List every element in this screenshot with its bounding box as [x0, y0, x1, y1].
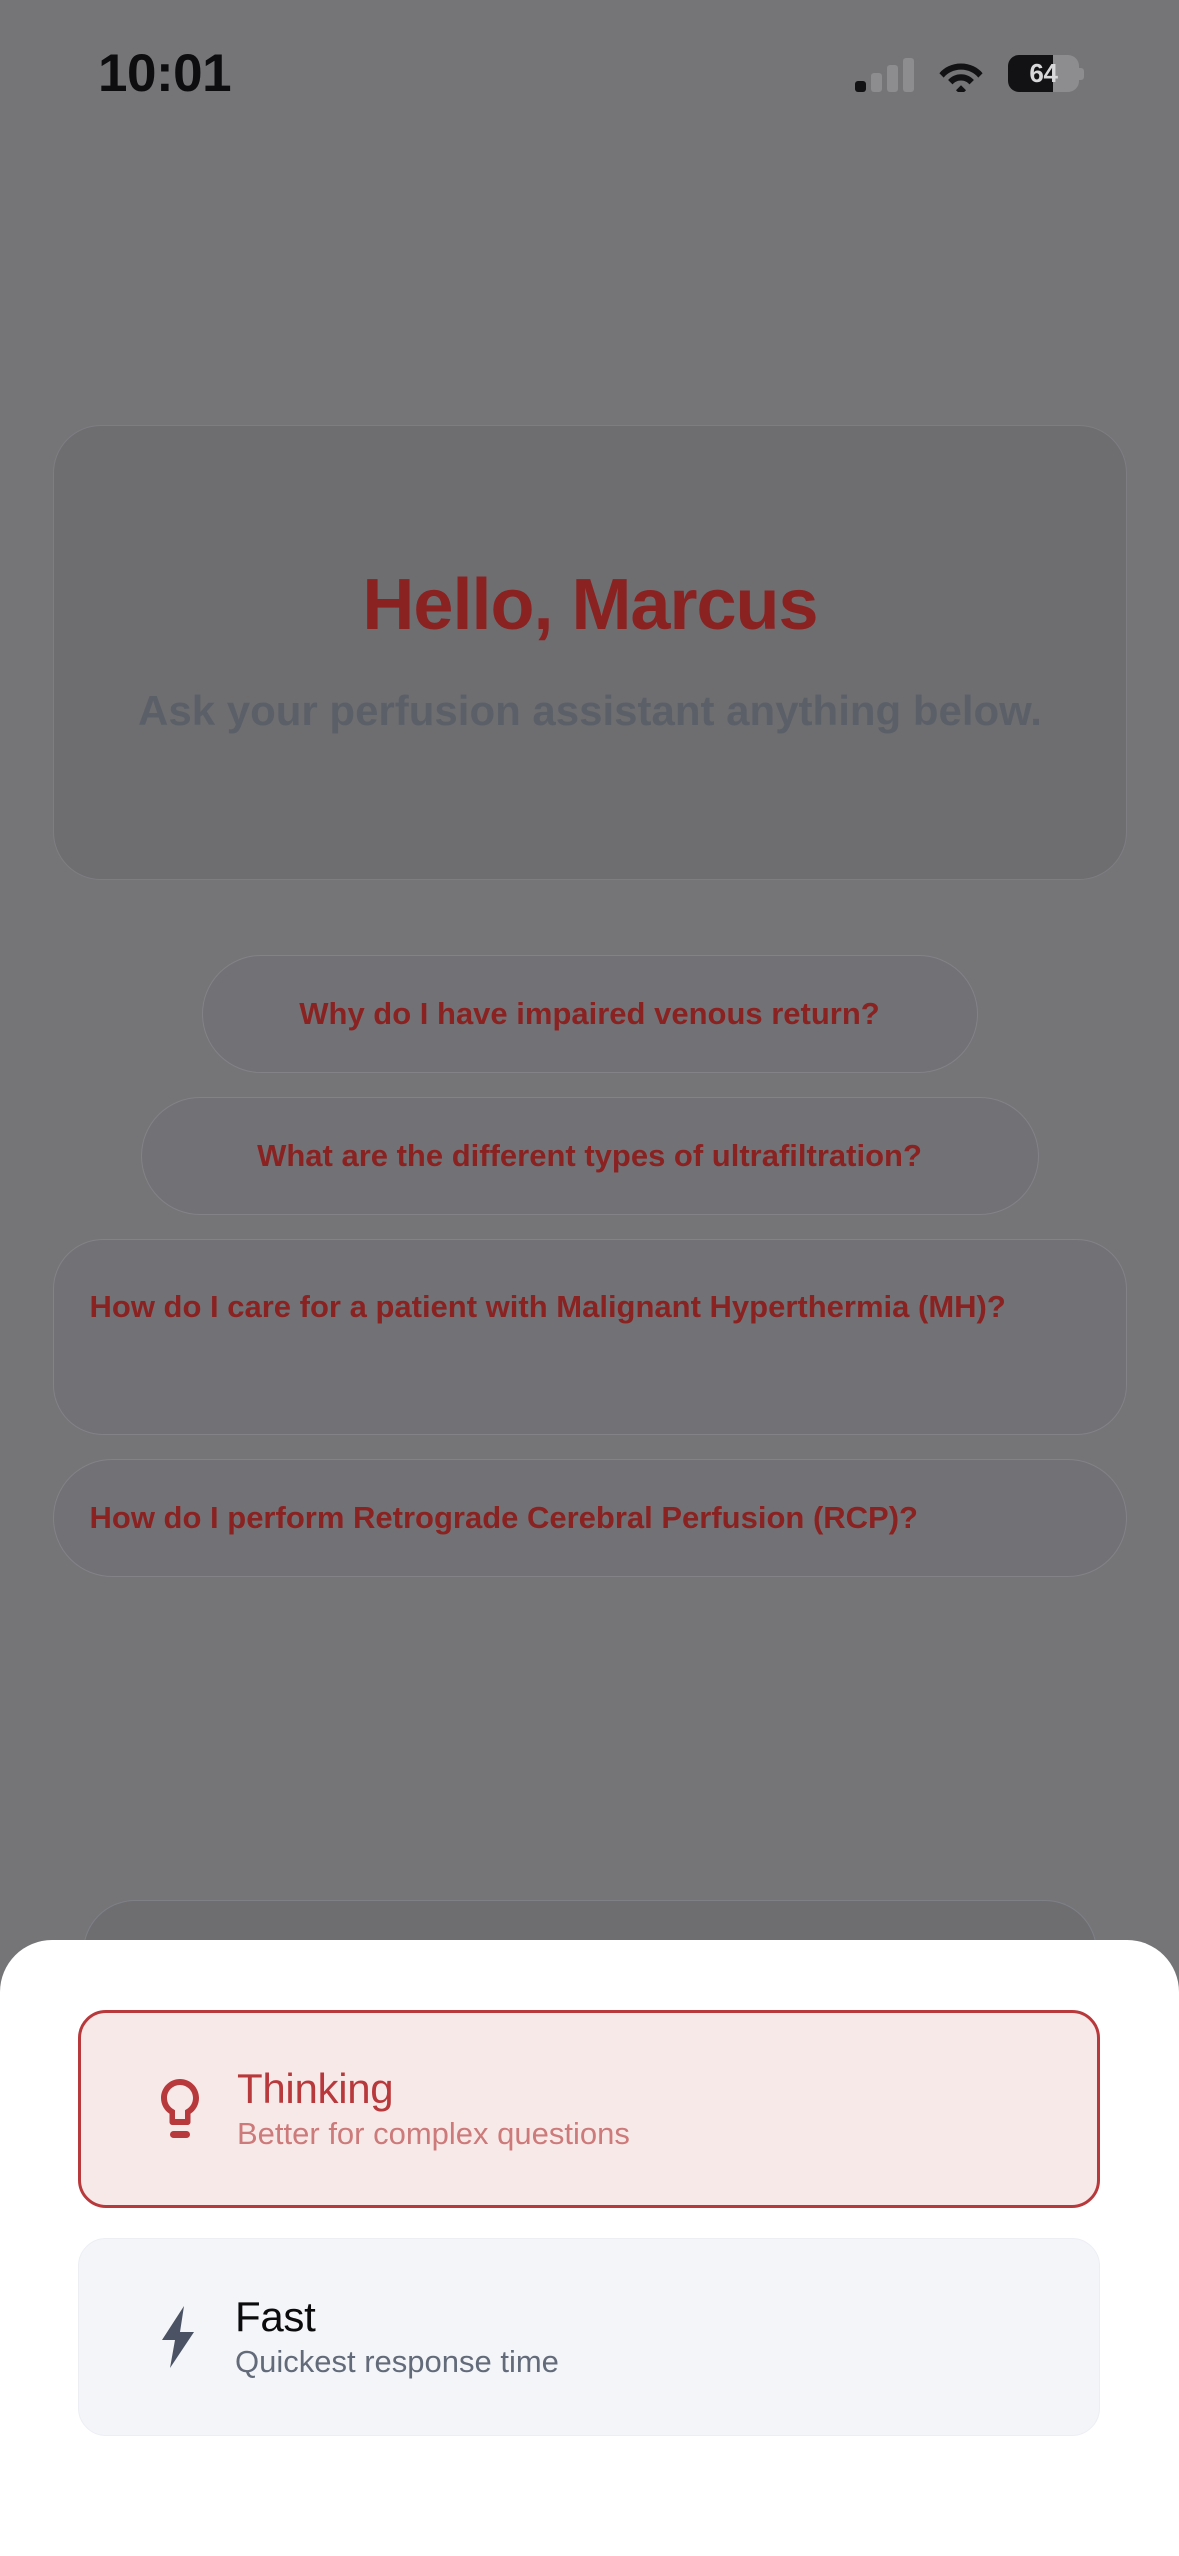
suggestion-chip[interactable]: What are the different types of ultrafil…	[141, 1097, 1039, 1215]
lightning-bolt-icon	[141, 2304, 215, 2370]
greeting-card: Hello, Marcus Ask your perfusion assista…	[53, 425, 1127, 880]
page-title: Hello, Marcus	[362, 566, 817, 645]
battery-icon: 64	[1008, 55, 1084, 92]
page-subtitle: Ask your perfusion assistant anything be…	[138, 683, 1042, 740]
cellular-signal-icon	[855, 58, 914, 92]
status-bar: 10:01 64	[0, 0, 1179, 120]
suggestion-chip-label: How do I care for a patient with Maligna…	[90, 1282, 1006, 1332]
suggestion-chip-list: Why do I have impaired venous return? Wh…	[0, 955, 1179, 1577]
mode-option-fast[interactable]: Fast Quickest response time	[78, 2238, 1100, 2436]
mode-option-thinking[interactable]: Thinking Better for complex questions	[78, 2010, 1100, 2208]
battery-percent-label: 64	[1008, 55, 1079, 92]
wifi-icon	[938, 58, 984, 92]
status-bar-indicators: 64	[855, 29, 1084, 92]
suggestion-chip-label: How do I perform Retrograde Cerebral Per…	[90, 1500, 919, 1536]
mode-option-title: Fast	[235, 2295, 559, 2339]
lightbulb-icon	[143, 2076, 217, 2142]
response-mode-sheet: Thinking Better for complex questions Fa…	[0, 1940, 1179, 2556]
suggestion-chip[interactable]: Why do I have impaired venous return?	[202, 955, 978, 1073]
suggestion-chip-label: What are the different types of ultrafil…	[257, 1138, 922, 1174]
suggestion-chip-label: Why do I have impaired venous return?	[299, 996, 880, 1032]
status-bar-time: 10:01	[98, 21, 231, 100]
mode-option-description: Better for complex questions	[237, 2118, 630, 2151]
mode-option-text: Thinking Better for complex questions	[217, 2067, 630, 2151]
mode-option-text: Fast Quickest response time	[215, 2295, 559, 2379]
suggestion-chip[interactable]: How do I care for a patient with Maligna…	[53, 1239, 1127, 1435]
mode-option-description: Quickest response time	[235, 2346, 559, 2379]
mode-option-title: Thinking	[237, 2067, 630, 2111]
suggestion-chip[interactable]: How do I perform Retrograde Cerebral Per…	[53, 1459, 1127, 1577]
